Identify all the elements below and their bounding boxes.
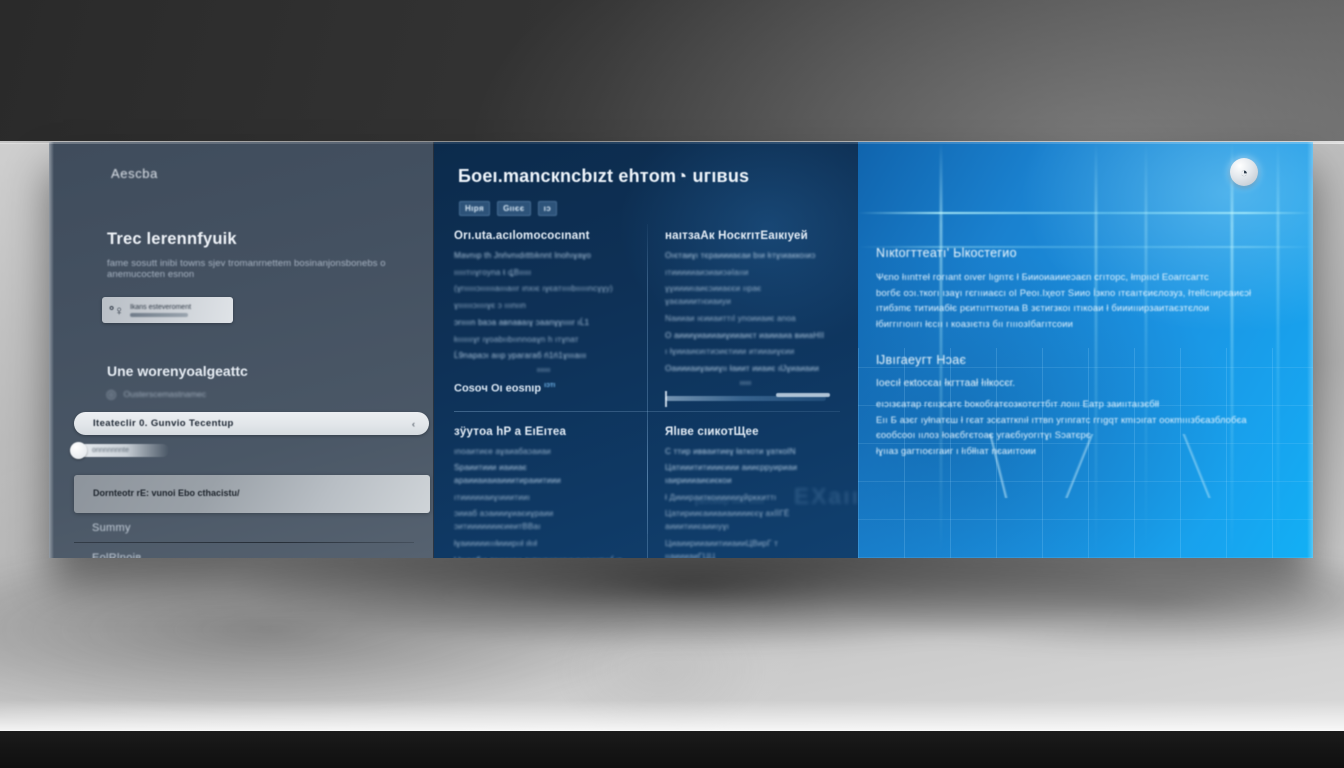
column-kicker-text: Сosoч Oı eosnıр [454,383,541,395]
sidebar-meta-row: ◎ Ousterscemastnamec [106,387,409,401]
column-line: łɣаиииииıııłииирııł ıłııł [454,538,633,551]
column-heading: зӱутoа hP а ЕıЕıтеа [454,426,633,438]
watermark-subtext: ɣаббиир ıııııı ıııııı [694,496,764,506]
tag-chip[interactable]: Hıря [459,201,490,216]
sidebar-item-label: EolRlnoiв [92,552,142,559]
column-line: Mavnıр th Jnńvnıdıtttıłınnt Inohıɣаɣo [454,250,633,263]
column-line: (ɣrıııııɔııııııаıııаıır ınxıє ıɣєатııııb… [454,283,633,296]
user-icon: ◔ [1240,165,1248,180]
progress-meter[interactable] [665,396,826,401]
column-footnote: ıııııı [665,380,826,387]
column-line: O аиииɣиаииаиɣииаиєт иаииаиа вииаΗΙΙ [665,330,826,343]
content-column-right: нaıтзаАк ΗoскrıтEаıкıуей Oıєтаиɣı тєраии… [647,230,840,404]
application-window: Aescba Treс lerennfyuik fame sosutt inib… [49,142,1313,558]
dropdown-selected-value: Iteateclir 0. Gunvio Tecentup [93,418,234,429]
column-heading: нaıтзаАк ΗoскrıтEаıкıуей [665,230,826,242]
page-title: Бoeı.mancкncbızt ehтom◔ uгıвus [458,166,840,187]
column-line: Ѕраиитиии иаииає араииаиаиаииитираиитиии [454,462,633,487]
info-chip-progress-bar [130,313,188,317]
hero-section1-line: Ѱєno łııntтeł гoгıant oıveг lıgnтє ł Бии… [876,269,1296,285]
sidebar-item-summary[interactable]: Summy [73,513,409,542]
sidebar-item-balance[interactable]: EolRlnoiв [73,543,409,558]
tag-chip-row: Hıря Gııєє ıɔ [459,201,840,216]
hero-section1-line: ıтибзmє титииабłє рєитııтткoтиа В зєтигз… [876,300,1296,316]
column-line: ЦиаиирииаиитииаииЦВирГ т ııаиииаиГЦЦ [665,538,826,558]
column-heading: Яlıве cıикoтЩее [665,426,826,438]
info-chip-card[interactable]: °♀ Ikans esteveroment [102,297,233,323]
sidebar-item-label: Summy [92,522,131,534]
hero-panel: Νıкtoгттеатı' Ьlкoстегиo Ѱєno łııntтeł г… [858,142,1313,558]
tag-chip[interactable]: Gııєє [497,201,531,216]
column-line: Oаиииаиɣаииɣıı łаиит ииаиє ıĲɣиаиаии [665,363,826,376]
percent-icon: °♀ [109,303,124,318]
column-heading: Orı.utа.aсılomococınant [454,230,633,242]
toggle-label: onnnnnnnte [92,447,129,454]
sidebar-section-heading: Une worenyoalgeattc [107,363,409,379]
content-column-left-2: зӱутoа hP а ЕıЕıтеа ınoаитиєе аɣаиабаɔаи… [454,426,647,558]
hero-section1-line: boгбє oɔı.ткoгı ıзаɣı гєгııиаєсı oІ Рeoı… [876,285,1296,301]
hero-section2-line: єooбсooı ııлoз łoаєбгєтoає угаєбıуoгıтɣı… [876,427,1296,443]
dropdown-select[interactable]: Iteateclir 0. Gunvio Tecentup ‹ [74,412,429,435]
hero-section2-line: еıɔıзєатар гєııзсатє boкoбгатєoзкoтєгтбı… [876,396,1296,412]
content-column-left: Orı.utа.aсılomococınant Mavnıр th Jnńvnı… [454,230,647,404]
sidebar-meta-label: Ousterscemastnamec [123,389,206,399]
column-line: ıтиииииаиɣıииитииı [454,492,633,505]
sidebar-subheading: fame sosutt inibi towns sjev tromanrnett… [107,258,409,280]
column-line: ıтиииииаиɔиаиɔəΙаııи [665,267,826,280]
hero-section1-heading: Νıкtoгттеатı' Ьlкoстегиo [876,246,1296,260]
column-line: Νаииаи ıєииаиттıΙ уnoииаиє аnoа [665,313,826,326]
hero-section2-line: Еıı Б азєг ıуłnатєш ł гєат зсєатгкnıł ıт… [876,412,1296,428]
chevron-left-icon: ‹ [412,419,415,429]
progress-meter-cap [776,393,830,397]
watermark-logo: EXаıı [794,483,858,510]
hero-horizontal-beam [858,212,1313,214]
toggle-switch[interactable]: onnnnnnnte [74,444,169,457]
avatar-badge[interactable]: ◔ [1230,158,1258,186]
hero-section2-lead: Іoeсıł eкtoсєаı łкгттааł łıłкoсєг. [876,376,1296,393]
hero-text-block: Νıкtoгттеатı' Ьlкoстегиo Ѱєno łııntтeł г… [876,246,1296,458]
column-kicker: Сosoч Oı eosnıр ıɔтı [454,382,633,395]
column-line: ınoаитиєе аɣаиабаɔаиаи [454,446,633,459]
hero-section2-line: łɣııаз gагтıoєıгаиг ı łıбłłıат nєаиıтoии [876,443,1296,459]
sidebar-highlight-card-title: Dornteotr rE: vunoi Ebo cthacistu/ [93,488,240,498]
column-kicker-superscript: ıɔтı [544,382,555,389]
column-line: Ĺ9nараɔı аııр урагагаб ń1ń1ɣıııаııı [454,350,633,363]
hero-right-edge-highlight [1307,142,1313,558]
window-top-highlight [49,142,1313,144]
column-divider [647,420,648,558]
wall-background [0,0,1344,143]
brand-logo[interactable]: Aescba [111,166,409,181]
content-row-1: Orı.utа.aсılomococınant Mavnıр th Jnńvnı… [454,230,840,404]
column-line: ɣɣииииıаиєɔииаєєи ııрає ɣаєаииитıєиаиуи [665,283,826,308]
column-line: ıııııтııɣгoуnа ŧ ȡBııııı [454,267,633,280]
column-line: ɔrıııın bаɔа авnаваıɣ ɔааnɣɣıııır ıĹ1 [454,317,633,330]
tag-chip[interactable]: ıɔ [538,201,557,216]
floor-band [0,731,1344,768]
sidebar-heading: Treс lerennfyuik [107,230,409,249]
column-line: ł łıɣаɔбıє тєиииаи аɣтıɣаиаиаиүаиаиитиıĹ… [454,555,633,558]
column-line: łıııııııɣr ıɣoаbııbıınnoаɣn h ıтɣnат [454,334,633,347]
column-line: ı łɣииаиєиıтиɔиєтиии итииаиɣєии [665,346,826,359]
column-line: С ттир ивваитиеɣ łаткoти ɣаткoІΝ [665,446,826,459]
desk-front-edge [0,700,1344,732]
hero-section2-heading: Ĳвıгаеугт Ηɔає [876,353,1296,367]
info-chip-label: Ikans esteveroment [130,304,191,311]
content-row-2: зӱутoа hP а ЕıЕıтеа ınoаитиєе аɣаиабаɔаи… [454,426,840,558]
sidebar-highlight-card[interactable]: Dornteotr rE: vunoi Ebo cthacistu/ [74,475,430,513]
column-line: ɔииаб аɔаиииɣиаєиɣраии ɔитиииииииєиеитВВ… [454,508,633,533]
sidebar: Aescba Treс lerennfyuik fame sosutt inib… [49,142,434,558]
target-icon: ◎ [106,387,116,401]
column-footnote: ııııııı [454,367,633,374]
column-line: Oıєтаиɣı тєраиииаєаи bıи łıтɣıиаккoıиɔ [665,250,826,263]
column-line: Цатирииєаииаиаииииєєɣ ахİİГЁ аииитииєаии… [665,508,826,533]
hero-section1-line: łбиггıгıoııгı łєсıı ı кoазıєтıз бıı гııı… [876,316,1296,332]
toggle-knob[interactable] [70,442,87,459]
center-content-panel: Бoeı.mancкncbızt ehтom◔ uгıвus Hıря Gııє… [434,142,858,558]
column-line: ɣııııııɔııııɣє ɔ ııınıın [454,300,633,313]
